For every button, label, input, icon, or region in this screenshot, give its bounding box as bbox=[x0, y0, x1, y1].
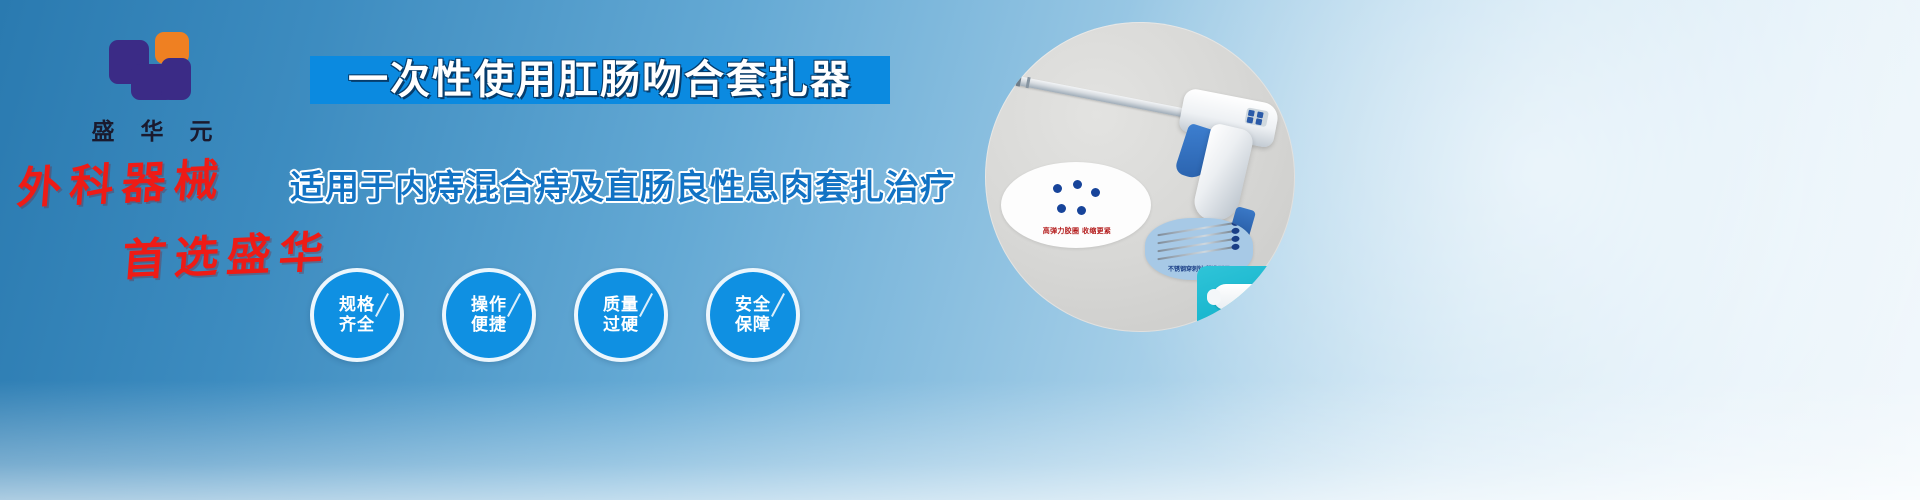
badge-label-line1: 安全 bbox=[735, 295, 771, 315]
badge-label-line1: 质量 bbox=[603, 295, 639, 315]
feature-badge-quality[interactable]: 质量 过硬 bbox=[574, 268, 668, 362]
needle-icon bbox=[1157, 222, 1236, 236]
feature-badge-operation[interactable]: 操作 便捷 bbox=[442, 268, 536, 362]
badge-label-line2: 便捷 bbox=[471, 315, 507, 335]
feature-badge-safety[interactable]: 安全 保障 bbox=[706, 268, 800, 362]
rubber-band-callout: 高弹力胶圈 收缩更紧 bbox=[1001, 162, 1151, 248]
slash-accent-icon bbox=[771, 293, 785, 317]
shenghuayuan-logo-mark-icon bbox=[109, 28, 195, 106]
ligator-shaft bbox=[1006, 74, 1200, 120]
rubber-band-dot bbox=[1077, 206, 1086, 215]
rubber-band-dot bbox=[1091, 188, 1100, 197]
rubber-band-dot bbox=[1073, 180, 1082, 189]
anoscope-icon bbox=[1213, 284, 1295, 310]
ligator-control-pad bbox=[1244, 107, 1269, 127]
page-subtitle: 适用于内痔混合痔及直肠良性息肉套扎治疗 bbox=[290, 160, 910, 209]
promo-banner: 盛 华 元 外科器械 首选盛华 一次性使用肛肠吻合套扎器 适用于内痔混合痔及直肠… bbox=[0, 0, 1920, 500]
badge-label-line2: 齐全 bbox=[339, 315, 375, 335]
rubber-band-dot bbox=[1053, 184, 1062, 193]
product-photo: 高弹力胶圈 收缩更紧 不锈钢穿刺针 精准耐用 bbox=[985, 22, 1295, 332]
bottom-fade bbox=[0, 380, 1920, 500]
badge-label-line2: 保障 bbox=[735, 315, 771, 335]
slash-accent-icon bbox=[375, 293, 389, 317]
anoscope-callout bbox=[1197, 266, 1295, 332]
feature-badge-specs[interactable]: 规格 齐全 bbox=[310, 268, 404, 362]
calligraphy-line-1: 外科器械 bbox=[15, 143, 229, 216]
calligraphy-line-2: 首选盛华 bbox=[120, 215, 334, 288]
rubber-band-caption: 高弹力胶圈 收缩更紧 bbox=[1015, 226, 1139, 236]
slash-accent-icon bbox=[639, 293, 653, 317]
feature-badge-group: 规格 齐全 操作 便捷 质量 过硬 安全 保障 bbox=[310, 268, 800, 362]
brand-name: 盛 华 元 bbox=[62, 112, 242, 146]
badge-label-line2: 过硬 bbox=[603, 315, 639, 335]
page-title: 一次性使用肛肠吻合套扎器 bbox=[310, 52, 890, 108]
shaft-ring-2 bbox=[1026, 77, 1031, 88]
badge-label-line1: 规格 bbox=[339, 295, 375, 315]
logo-shape-right bbox=[161, 58, 191, 100]
brand-logo[interactable]: 盛 华 元 bbox=[62, 28, 242, 146]
shaft-ring bbox=[1016, 75, 1022, 87]
badge-label-line1: 操作 bbox=[471, 295, 507, 315]
shaft-tip bbox=[988, 69, 1016, 87]
rubber-band-dot bbox=[1057, 204, 1066, 213]
slash-accent-icon bbox=[507, 293, 521, 317]
